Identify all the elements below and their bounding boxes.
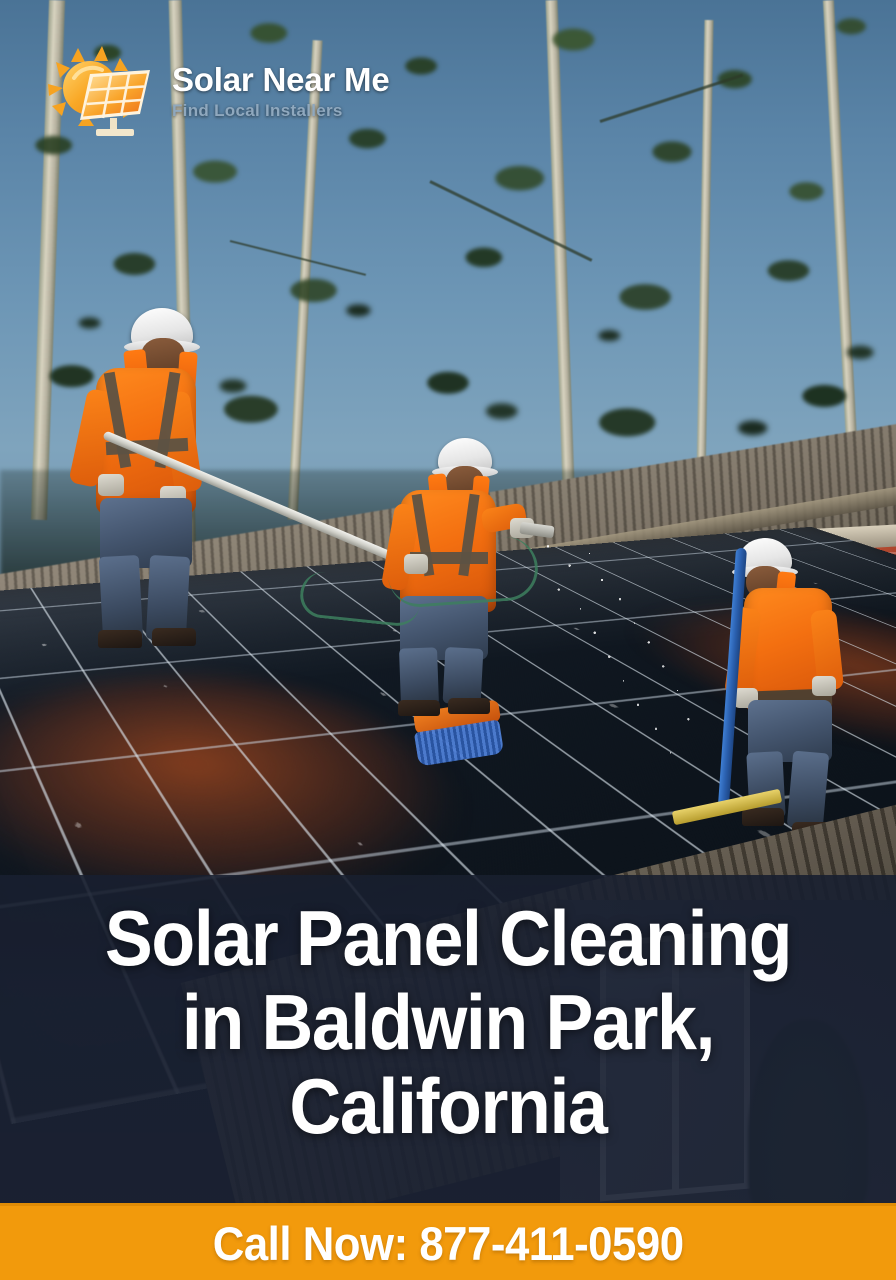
title-line-1: Solar Panel Cleaning: [105, 894, 791, 982]
work-boot: [152, 628, 196, 646]
work-glove: [812, 676, 836, 696]
brand-logo[interactable]: Solar Near Me Find Local Installers: [44, 44, 390, 140]
work-boot: [98, 630, 142, 648]
worker-leg: [787, 751, 829, 830]
title-line-3: California: [289, 1062, 606, 1150]
call-now-bar[interactable]: Call Now: 877-411-0590: [0, 1203, 896, 1280]
work-glove: [98, 474, 124, 496]
brand-logo-text: Solar Near Me Find Local Installers: [172, 63, 390, 121]
water-spray: [530, 532, 710, 772]
page-title: Solar Panel Cleaning in Baldwin Park, Ca…: [36, 896, 860, 1148]
worker-leg: [399, 647, 439, 706]
call-now-label[interactable]: Call Now: 877-411-0590: [213, 1216, 684, 1271]
work-boot: [448, 698, 490, 714]
brand-name: Solar Near Me: [172, 63, 390, 98]
poster: Solar Near Me Find Local Installers Sola…: [0, 0, 896, 1280]
brand-tagline: Find Local Installers: [172, 101, 390, 121]
work-boot: [398, 700, 440, 716]
work-boot: [742, 808, 784, 826]
sun-solar-panel-icon: [44, 44, 160, 140]
worker-leg: [443, 647, 484, 705]
title-line-2: in Baldwin Park,: [182, 978, 714, 1066]
